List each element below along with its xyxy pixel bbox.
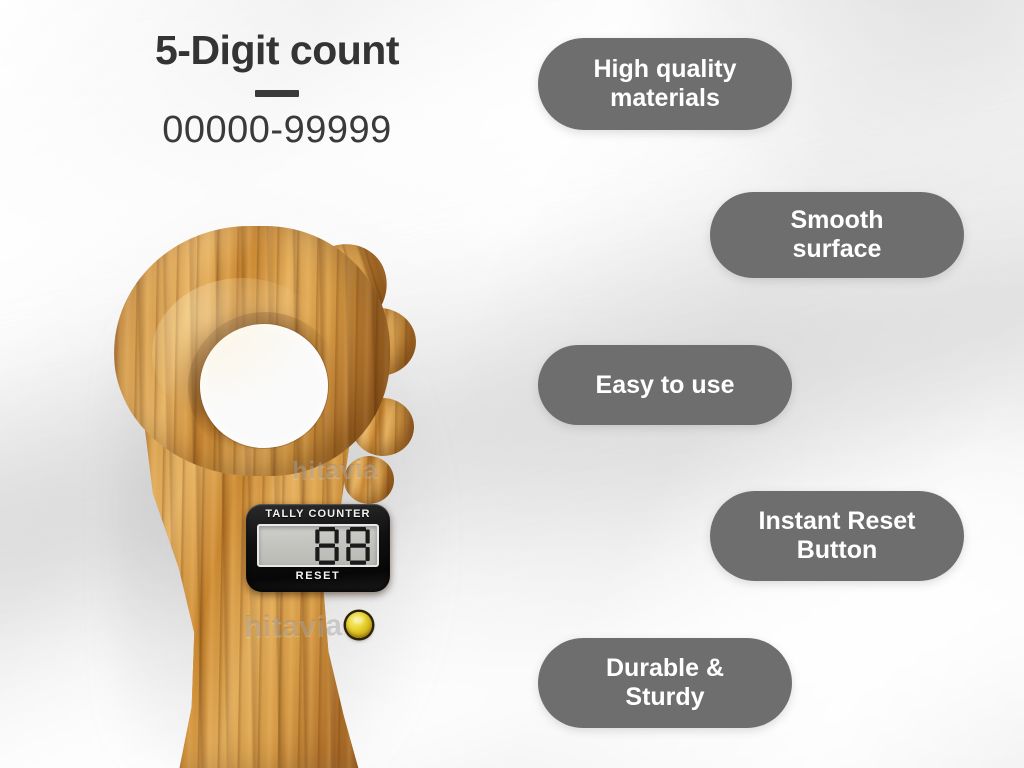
title-divider xyxy=(255,90,299,97)
feature-badge-label: Instant Reset Button xyxy=(759,507,916,565)
lcd-digit-8 xyxy=(345,526,371,566)
finger-ring-hole xyxy=(200,324,328,448)
count-range-text: 00000-99999 xyxy=(62,111,492,151)
feature-badge-high-quality-materials: High quality materials xyxy=(538,38,792,130)
feature-badge-instant-reset-button: Instant Reset Button xyxy=(710,491,964,581)
lcd-title-label: TALLY COUNTER xyxy=(265,509,370,520)
lcd-screen xyxy=(257,524,379,567)
lcd-digit-group xyxy=(314,526,371,566)
reset-button[interactable] xyxy=(346,612,372,638)
feature-badge-label: Smooth surface xyxy=(790,206,883,264)
lcd-module: TALLY COUNTER RESET xyxy=(246,504,390,592)
headline-block: 5-Digit count 00000-99999 xyxy=(62,28,492,151)
lcd-digit-8 xyxy=(314,526,340,566)
feature-badge-easy-to-use: Easy to use xyxy=(538,345,792,425)
feature-badge-label: Durable & Sturdy xyxy=(606,654,724,712)
handle-side-bump-lower xyxy=(344,456,394,504)
product-image-wooden-tally-counter: hitavia hitavia TALLY COUNTER RESET xyxy=(96,212,476,768)
page-title: 5-Digit count xyxy=(62,28,492,72)
feature-badge-label: High quality materials xyxy=(593,55,736,113)
feature-badge-smooth-surface: Smooth surface xyxy=(710,192,964,278)
feature-badge-label: Easy to use xyxy=(596,371,735,400)
lcd-reset-label: RESET xyxy=(296,571,341,582)
feature-badge-durable-sturdy: Durable & Sturdy xyxy=(538,638,792,728)
infographic-canvas: 5-Digit count 00000-99999 High quality m… xyxy=(0,0,1024,768)
